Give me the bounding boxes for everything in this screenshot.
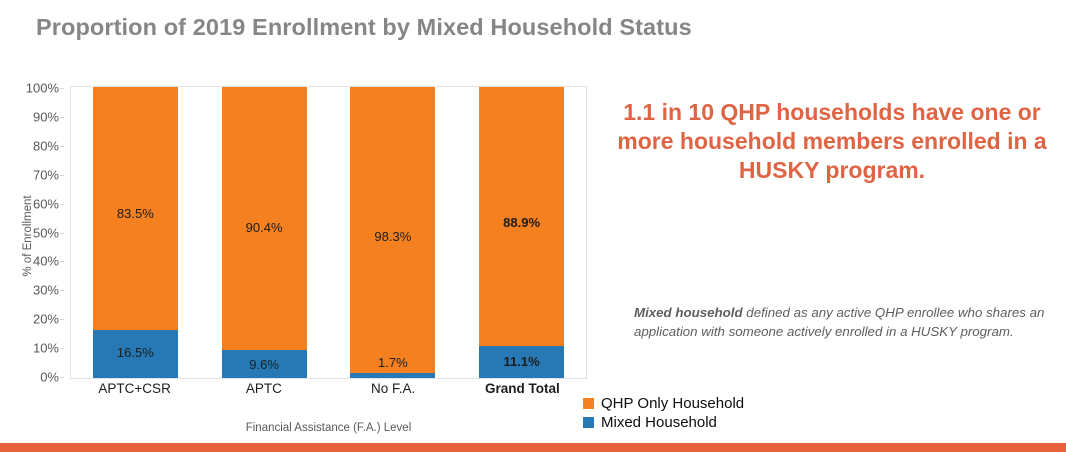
bar-label-mixed: 16.5% [93,345,178,360]
y-tick-mark [60,348,64,349]
slide-canvas: Proportion of 2019 Enrollment by Mixed H… [0,0,1066,452]
bar-label-mixed: 1.7% [350,355,435,370]
y-tick-label: 0% [40,370,59,385]
bar-segment-qhp-only[interactable] [222,87,307,350]
square-swatch-icon [583,417,594,428]
y-tick-label: 10% [33,341,59,356]
bar-segment-mixed[interactable] [350,373,435,378]
square-swatch-icon [583,398,594,409]
x-axis-tick-labels: APTC+CSR APTC No F.A. Grand Total [70,381,587,403]
plot-inner: 83.5% 16.5% 90.4% 9.6% [71,87,586,378]
page-title: Proportion of 2019 Enrollment by Mixed H… [36,14,692,41]
stacked-bar[interactable]: 83.5% 16.5% [93,87,178,378]
chart-container: % of Enrollment 100% 90% 80% 70% 60% 50%… [0,78,600,438]
y-tick-label: 90% [33,109,59,124]
y-tick-mark [60,204,64,205]
y-tick-mark [60,261,64,262]
y-tick-label: 40% [33,254,59,269]
x-tick-label-no-fa: No F.A. [329,381,458,396]
bar-label-qhp-only: 98.3% [350,229,435,244]
y-tick-label: 30% [33,283,59,298]
legend-item-mixed[interactable]: Mixed Household [583,413,843,432]
callout-statement: 1.1 in 10 QHP households have one or mor… [616,98,1048,186]
y-axis-tick-labels: 100% 90% 80% 70% 60% 50% 40% 30% 20% 10%… [12,88,64,377]
y-tick-mark [60,377,64,378]
y-tick-mark [60,290,64,291]
bar-label-qhp-only: 90.4% [222,220,307,235]
bar-group-no-fa[interactable]: 98.3% 1.7% [329,87,458,378]
bar-group-grand-total[interactable]: 88.9% 11.1% [457,87,586,378]
y-tick-label: 80% [33,138,59,153]
x-tick-label-aptc-csr: APTC+CSR [70,381,199,396]
stacked-bar[interactable]: 90.4% 9.6% [222,87,307,378]
y-tick-mark [60,175,64,176]
footnote-definition: Mixed household defined as any active QH… [634,303,1046,342]
y-tick-mark [60,319,64,320]
legend-item-label: Mixed Household [601,414,717,431]
legend-item-label: QHP Only Household [601,395,744,412]
stacked-bar[interactable]: 88.9% 11.1% [479,87,564,378]
y-tick-label: 70% [33,167,59,182]
legend-item-qhp-only[interactable]: QHP Only Household [583,394,843,413]
bar-label-mixed: 11.1% [479,354,564,369]
bar-label-mixed: 9.6% [222,357,307,372]
bar-label-qhp-only: 88.9% [479,215,564,230]
bar-group-aptc[interactable]: 90.4% 9.6% [200,87,329,378]
y-tick-mark [60,88,64,89]
y-tick-mark [60,146,64,147]
bottom-accent-bar [0,443,1066,452]
x-tick-label-grand-total: Grand Total [458,381,587,396]
bar-group-aptc-csr[interactable]: 83.5% 16.5% [71,87,200,378]
x-tick-label-aptc: APTC [199,381,328,396]
footnote-term: Mixed household [634,305,743,320]
bar-label-qhp-only: 83.5% [93,206,178,221]
chart-legend: QHP Only Household Mixed Household [583,394,843,432]
y-tick-mark [60,117,64,118]
stacked-bar[interactable]: 98.3% 1.7% [350,87,435,378]
y-tick-label: 50% [33,225,59,240]
y-tick-label: 20% [33,312,59,327]
x-axis-title: Financial Assistance (F.A.) Level [70,422,587,434]
y-tick-mark [60,233,64,234]
y-tick-label: 100% [26,81,59,96]
plot-area: 83.5% 16.5% 90.4% 9.6% [70,86,587,379]
y-tick-label: 60% [33,196,59,211]
